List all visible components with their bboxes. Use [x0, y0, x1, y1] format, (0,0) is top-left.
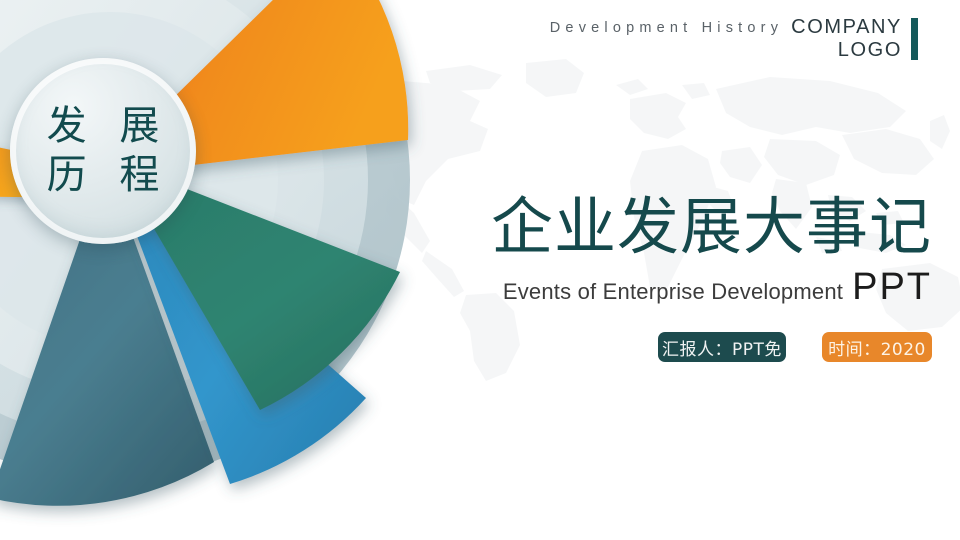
page-subtitle-ppt: PPT	[852, 266, 932, 309]
header-company: COMPANY	[791, 16, 902, 39]
page-subtitle-en: Events of Enterprise Development	[503, 279, 843, 305]
emblem-circle: 发 展 历 程	[10, 58, 196, 244]
date-badge: 时间：2020	[822, 332, 932, 362]
header-accent-bar	[911, 18, 918, 60]
emblem-line-2: 历 程	[37, 151, 170, 200]
badge-group: 汇报人：PPT免 时间：2020	[658, 332, 932, 362]
emblem-line-1: 发 展	[37, 102, 170, 151]
header-eyebrow: Development History	[550, 20, 783, 36]
header-logo: LOGO	[838, 39, 902, 62]
slide-canvas: 发 展 历 程 Development History COMPANY LOGO…	[0, 0, 960, 540]
page-title: 企业发展大事记	[412, 196, 932, 258]
presenter-badge: 汇报人：PPT免	[658, 332, 786, 362]
presenter-badge-label: 汇报人：PPT免	[662, 335, 782, 360]
title-block: 企业发展大事记 Events of Enterprise Development…	[412, 196, 932, 309]
date-badge-label: 时间：2020	[828, 335, 926, 360]
header: Development History COMPANY LOGO	[550, 16, 918, 62]
